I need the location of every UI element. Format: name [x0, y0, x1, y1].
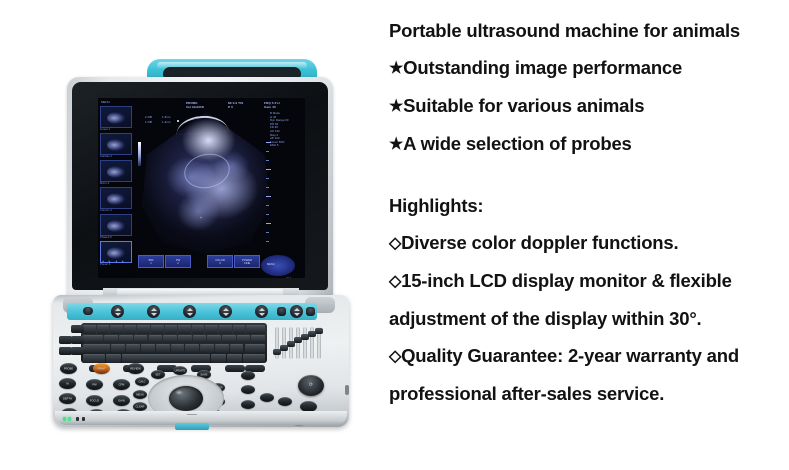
highlight-bullet-1-text: Diverse color doppler functions.	[401, 232, 678, 253]
depth-scale	[266, 142, 271, 250]
key[interactable]	[246, 325, 265, 334]
soft-button[interactable]: POWERCINE	[234, 255, 260, 268]
button-update[interactable]: UPDATE	[173, 366, 187, 375]
button-label: GAIN	[113, 399, 130, 402]
button-label: PROBE	[60, 367, 77, 370]
rotate-icon: ⟳	[298, 382, 324, 388]
sidebar-key[interactable]	[71, 336, 84, 344]
depth-rocker[interactable]	[111, 305, 124, 318]
button-label: PRINT	[93, 367, 110, 370]
focus-rocker[interactable]	[183, 305, 196, 318]
portable-veterinary-ultrasound-machine: MENU Linear 1 Cardiac 2 Micro 3 Convex 4…	[45, 45, 355, 435]
sidebar-key[interactable]	[71, 347, 84, 355]
thumbnail-image	[107, 112, 125, 124]
highlight-bullet-1: ◇Diverse color doppler functions.	[389, 224, 789, 262]
button-aux[interactable]	[278, 397, 292, 406]
key[interactable]	[124, 325, 137, 334]
star-icon: ★	[389, 88, 403, 125]
page-title: Portable ultrasound machine for animals	[389, 12, 789, 49]
status-led-power	[63, 417, 66, 421]
button-label: CFM	[113, 383, 130, 386]
keyboard-row	[83, 344, 265, 353]
key[interactable]	[227, 354, 242, 363]
highlight-bullet-2: ◇15-inch LCD display monitor & flexible …	[389, 262, 789, 337]
status-led-alert	[82, 417, 85, 421]
star-icon: ★	[389, 126, 403, 163]
key[interactable]	[110, 325, 123, 334]
button-focus[interactable]: FOCUS	[86, 395, 103, 406]
function-key[interactable]	[225, 365, 245, 372]
grayscale-bar	[138, 142, 141, 166]
screen-nav-pad[interactable]: MENU	[261, 255, 295, 276]
soft-button[interactable]: B/M1	[138, 255, 164, 268]
key[interactable]	[83, 344, 110, 353]
button-clear[interactable]: CLEAR	[133, 402, 147, 411]
front-latch[interactable]	[175, 423, 209, 430]
soft-button[interactable]: PW2	[165, 255, 191, 268]
key[interactable]	[193, 335, 207, 344]
keyboard-row	[83, 325, 265, 334]
key[interactable]	[178, 335, 192, 344]
key[interactable]	[192, 325, 205, 334]
highlights-heading: Highlights:	[389, 187, 789, 224]
space-key[interactable]	[122, 354, 210, 363]
highlight-bullet-3-text: Quality Guarantee: 2-year warranty and p…	[389, 345, 739, 404]
tgc-slider-handle[interactable]	[315, 328, 323, 334]
highlight-bullet-2-text: 15-inch LCD display monitor & flexible a…	[389, 270, 732, 329]
key[interactable]	[171, 344, 185, 353]
frequency-gain-field: FRQ 5.0 HGain 40	[264, 101, 280, 109]
nav-pad-label: MENU	[267, 263, 275, 266]
soft-button-label: PW2	[166, 259, 190, 266]
list-item[interactable]	[100, 133, 132, 155]
button-meas[interactable]: MEAS	[133, 390, 147, 399]
thumbnail-image	[107, 139, 125, 151]
key[interactable]	[137, 325, 150, 334]
screen-page-dots[interactable]: ◂ ▸ ◂ ▸	[102, 259, 126, 263]
list-item[interactable]	[100, 214, 132, 236]
button-label: REVIEW	[127, 367, 144, 370]
side-port	[345, 385, 349, 395]
sidebar-key[interactable]	[59, 347, 72, 355]
button-label: FOCUS	[86, 399, 103, 402]
button-cfm[interactable]: CFM	[113, 379, 130, 390]
key[interactable]	[251, 335, 265, 344]
key[interactable]	[83, 354, 105, 363]
button-label: DEPTH	[59, 397, 76, 400]
list-item[interactable]	[100, 187, 132, 209]
button-label: MEAS	[133, 393, 147, 396]
thumbnail-label: Linear 1	[100, 128, 110, 131]
highlight-bullet-3: ◇Quality Guarantee: 2-year warranty and …	[389, 337, 789, 412]
gain-rocker[interactable]	[147, 305, 160, 318]
key[interactable]	[230, 344, 244, 353]
feature-bullet-3-text: A wide selection of probes	[403, 133, 632, 154]
caliper-marker: +	[200, 216, 202, 220]
thumbnail-label: Phased 5	[100, 236, 112, 239]
soft-button-label: POWERCINE	[235, 259, 259, 266]
key[interactable]	[222, 335, 236, 344]
key[interactable]	[106, 354, 121, 363]
trackball-highlight	[175, 390, 183, 395]
lcd-screen: MENU Linear 1 Cardiac 2 Micro 3 Convex 4…	[98, 98, 305, 278]
sidebar-key[interactable]	[71, 325, 84, 333]
ultrasound-probe-arc	[175, 114, 228, 135]
key[interactable]	[233, 325, 246, 334]
acoustic-output-field: MI 0.9 TISP 0	[228, 101, 243, 109]
trackball[interactable]	[169, 386, 203, 411]
marketing-copy: Portable ultrasound machine for animals …	[389, 0, 789, 470]
keyboard-row	[83, 335, 265, 344]
button-depth[interactable]: DEPTH	[59, 393, 76, 404]
key[interactable]	[126, 344, 140, 353]
depth-readout-label: 1.5cm	[162, 115, 170, 119]
diamond-icon: ◇	[389, 263, 401, 300]
button-m-mode[interactable]: M	[59, 378, 76, 389]
chevron-right-icon[interactable]	[306, 307, 315, 316]
key[interactable]	[245, 344, 266, 353]
status-led-charge	[76, 417, 79, 421]
feature-bullet-1-text: Outstanding image performance	[403, 57, 682, 78]
frequency-rocker[interactable]	[219, 305, 232, 318]
page-rocker[interactable]	[290, 305, 303, 318]
key[interactable]	[243, 354, 265, 363]
screen-soft-button-bar: ◂ ▸ ◂ ▸ B/M1 PW2 COLOR3 POWERCINE MENU V…	[98, 255, 305, 278]
rotary-knob[interactable]: ⟳	[298, 375, 324, 396]
monitor-bezel: MENU Linear 1 Cardiac 2 Micro 3 Convex 4…	[72, 82, 328, 290]
key[interactable]	[134, 335, 148, 344]
product-listing-image: MENU Linear 1 Cardiac 2 Micro 3 Convex 4…	[0, 0, 789, 470]
thumbnail-image	[107, 193, 125, 205]
dynamic-range-rocker[interactable]	[255, 305, 268, 318]
feature-bullet-2-text: Suitable for various animals	[403, 95, 644, 116]
key[interactable]	[185, 344, 199, 353]
thumbnail-image	[107, 220, 125, 232]
button-label: M	[59, 382, 76, 385]
button-pw[interactable]: PW	[86, 379, 103, 390]
screen-thumbnail-sidebar: Linear 1 Cardiac 2 Micro 3 Convex 4 Phas…	[98, 98, 134, 273]
screen-parameter-panel: B Mode G 40 Dyn Range 60 DR 60 FR 28 AO …	[270, 112, 304, 148]
key[interactable]	[151, 325, 164, 334]
button-caret-up[interactable]	[241, 371, 255, 380]
feature-bullet-1: ★Outstanding image performance	[389, 49, 789, 87]
button-review[interactable]: REVIEW	[127, 363, 144, 374]
star-icon: ★	[389, 50, 403, 87]
key[interactable]	[119, 335, 133, 344]
button-caret-down[interactable]	[241, 385, 255, 394]
soft-button[interactable]: COLOR3	[207, 255, 233, 268]
key[interactable]	[237, 335, 251, 344]
button-set[interactable]: SET	[151, 370, 165, 379]
chevron-left-icon[interactable]	[277, 307, 286, 316]
button-menu[interactable]	[241, 400, 255, 409]
button-probe[interactable]: PROBE	[60, 363, 77, 374]
key[interactable]	[211, 354, 226, 363]
key[interactable]	[156, 344, 170, 353]
gain-step-label-2: 1 DB	[145, 120, 152, 124]
list-item[interactable]	[100, 160, 132, 182]
key[interactable]	[178, 325, 191, 334]
button-label: CLEAR	[133, 405, 147, 408]
key[interactable]	[215, 344, 229, 353]
feature-bullet-3: ★A wide selection of probes	[389, 125, 789, 163]
button-label: SET	[151, 373, 165, 376]
key[interactable]	[207, 335, 221, 344]
monitor-lid: MENU Linear 1 Cardiac 2 Micro 3 Convex 4…	[67, 77, 333, 299]
thumbnail-image	[107, 166, 125, 178]
thumbnail-label: Convex 4	[100, 209, 112, 212]
key[interactable]	[83, 335, 103, 344]
key[interactable]	[205, 325, 218, 334]
key[interactable]	[165, 325, 178, 334]
version-label: V1.1	[286, 277, 291, 278]
key[interactable]	[149, 335, 163, 344]
button-label: UPDATE	[173, 369, 187, 372]
gain-step-label: 2 DB	[145, 115, 152, 119]
list-item[interactable]	[100, 106, 132, 128]
button-calc[interactable]: CALC	[135, 377, 149, 386]
depth-readout-label-2: 1.4cm	[162, 120, 170, 124]
key[interactable]	[200, 344, 214, 353]
probe-select-rocker[interactable]	[83, 307, 93, 315]
alphanumeric-keyboard[interactable]	[81, 323, 267, 363]
button-print[interactable]: PRINT	[93, 363, 110, 374]
tgc-slider-bank[interactable]	[273, 323, 323, 363]
key[interactable]	[97, 325, 110, 334]
button-gain[interactable]: GAIN	[113, 395, 130, 406]
soft-button-label: B/M1	[139, 259, 163, 266]
probe-info-field: PROBEVet Abd/OB	[186, 101, 204, 109]
button-label: CALC	[135, 380, 149, 383]
button-exit[interactable]	[260, 393, 274, 402]
feature-bullet-2: ★Suitable for various animals	[389, 87, 789, 125]
key[interactable]	[163, 335, 177, 344]
key[interactable]	[141, 344, 155, 353]
thumbnail-label: Micro 3	[100, 182, 109, 185]
button-label: PW	[86, 383, 103, 386]
section-spacer	[389, 163, 789, 187]
keyboard-row	[83, 354, 265, 363]
diamond-icon: ◇	[389, 338, 401, 375]
thumbnail-label: Cardiac 2	[100, 155, 112, 158]
ultrasound-orientation-marker	[177, 120, 179, 122]
key[interactable]	[111, 344, 125, 353]
sidebar-key[interactable]	[59, 336, 72, 344]
key[interactable]	[219, 325, 232, 334]
key[interactable]	[83, 325, 96, 334]
parameter-row: ENH 5	[270, 144, 304, 148]
key[interactable]	[104, 335, 118, 344]
soft-button-label: COLOR3	[208, 259, 232, 266]
status-led-battery	[68, 417, 71, 421]
diamond-icon: ◇	[389, 225, 401, 262]
